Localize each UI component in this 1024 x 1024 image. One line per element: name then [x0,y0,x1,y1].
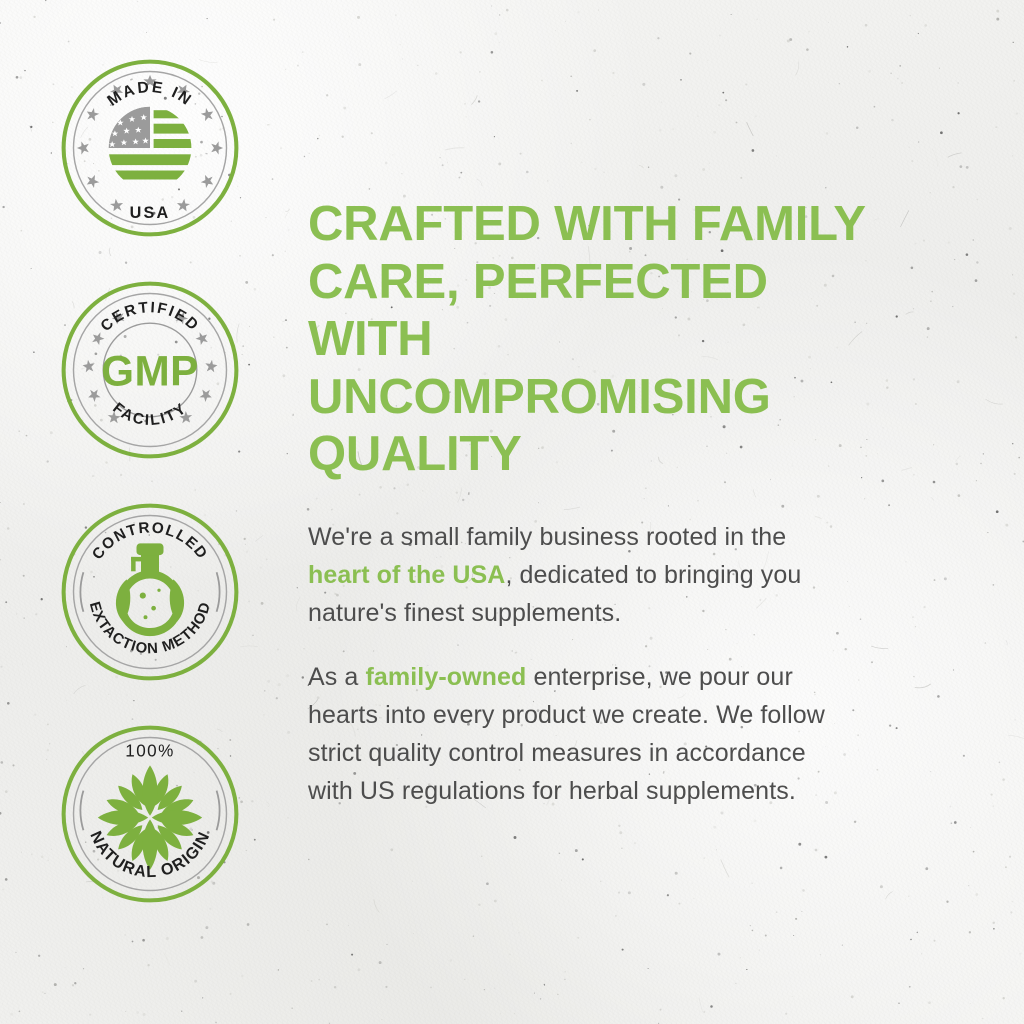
page-title: CRAFTED WITH FAMILY CARE, PERFECTED WITH… [308,196,868,484]
badge-top-text: 100% [125,741,174,760]
badge-gmp-certified: GMP CERTIFIED FACILITY [60,280,240,460]
trust-badge-column: MADE IN USA [0,0,300,904]
content-area: MADE IN USA [0,0,1024,1024]
text-column: CRAFTED WITH FAMILY CARE, PERFECTED WITH… [300,0,1024,810]
badge-natural-origin: 100% NATURAL ORIGIN [60,724,240,904]
emphasised-text: family-owned [365,663,526,691]
badge-bottom-arc-text: FACILITY [109,400,190,430]
flask-leaf-icon [116,543,184,636]
body-paragraph-1: We're a small family business rooted in … [308,518,828,632]
body-text: As a [308,663,365,691]
badge-made-in-usa: MADE IN USA [60,58,240,238]
decor-arc-left [80,572,83,612]
badge-controlled-extraction: CONTROLLED EXTACTION METHOD [60,502,240,682]
badge-top-arc-text: CERTIFIED [97,299,202,335]
badge-top-arc-text: MADE IN [104,79,195,110]
decor-arc-right [217,572,220,612]
promo-graphic: MADE IN USA [0,0,1024,1024]
usa-flag-circle-icon [100,107,201,180]
emphasised-text: heart of the USA [308,561,505,589]
badge-bottom-text: USA [130,204,171,222]
body-text: We're a small family business rooted in … [308,523,786,551]
gmp-seal-icon: GMP [101,347,199,394]
body-paragraph-2: As a family-owned enterprise, we pour ou… [308,658,828,810]
decor-arc-left [80,791,83,831]
decor-arc-right [217,791,220,831]
